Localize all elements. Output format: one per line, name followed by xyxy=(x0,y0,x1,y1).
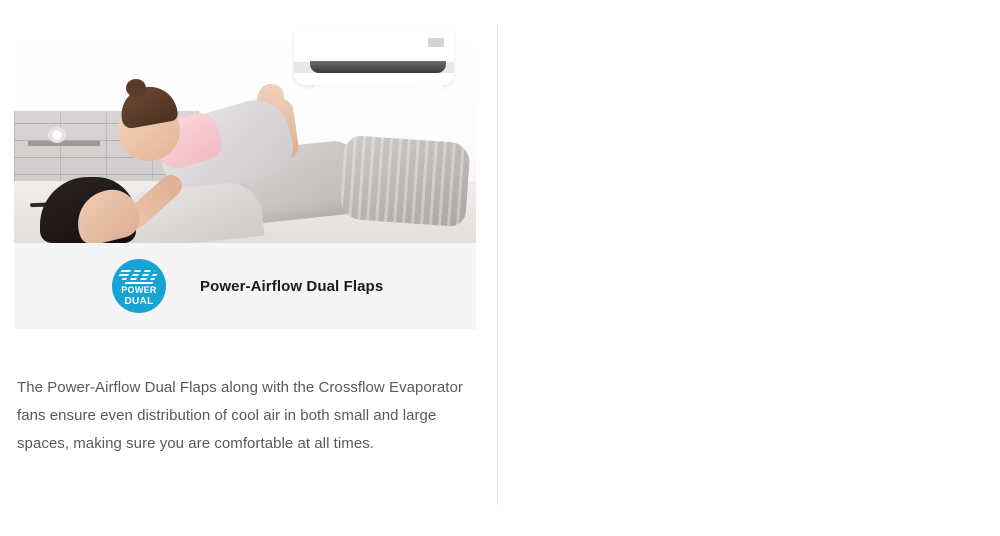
feature-description: The Power-Airflow Dual Flaps along with … xyxy=(17,374,481,458)
feature-power-airflow-dual-flaps: POWER DUAL Power-Airflow Dual Flaps The … xyxy=(0,0,500,536)
feature-label-band: POWER DUAL Power-Airflow Dual Flaps xyxy=(14,243,476,329)
feature-columns: POWER DUAL Power-Airflow Dual Flaps The … xyxy=(0,0,1000,536)
photo-illustration xyxy=(14,25,476,243)
airflow-streak-gaps xyxy=(123,267,153,281)
shelf-flower xyxy=(48,127,66,143)
badge-word-power: POWER xyxy=(112,286,166,295)
feature-photo-baby-and-ac xyxy=(14,25,476,243)
feature-card[interactable]: POWER DUAL Power-Airflow Dual Flaps xyxy=(14,25,476,329)
pillow xyxy=(339,135,471,228)
feature-highlights-page: POWER DUAL Power-Airflow Dual Flaps The … xyxy=(0,0,1000,536)
feature-title: Power-Airflow Dual Flaps xyxy=(200,278,383,295)
air-conditioner-display xyxy=(428,38,444,47)
feature-stabilizer-inside: Stabilizer Inside No need to worry about… xyxy=(500,0,1000,536)
power-dual-airflow-icon: POWER DUAL xyxy=(112,259,166,313)
air-conditioner-vent xyxy=(310,61,446,73)
wall-shelf xyxy=(28,141,100,146)
badge-word-dual: DUAL xyxy=(112,297,166,307)
baby-hair-bun xyxy=(126,79,146,97)
